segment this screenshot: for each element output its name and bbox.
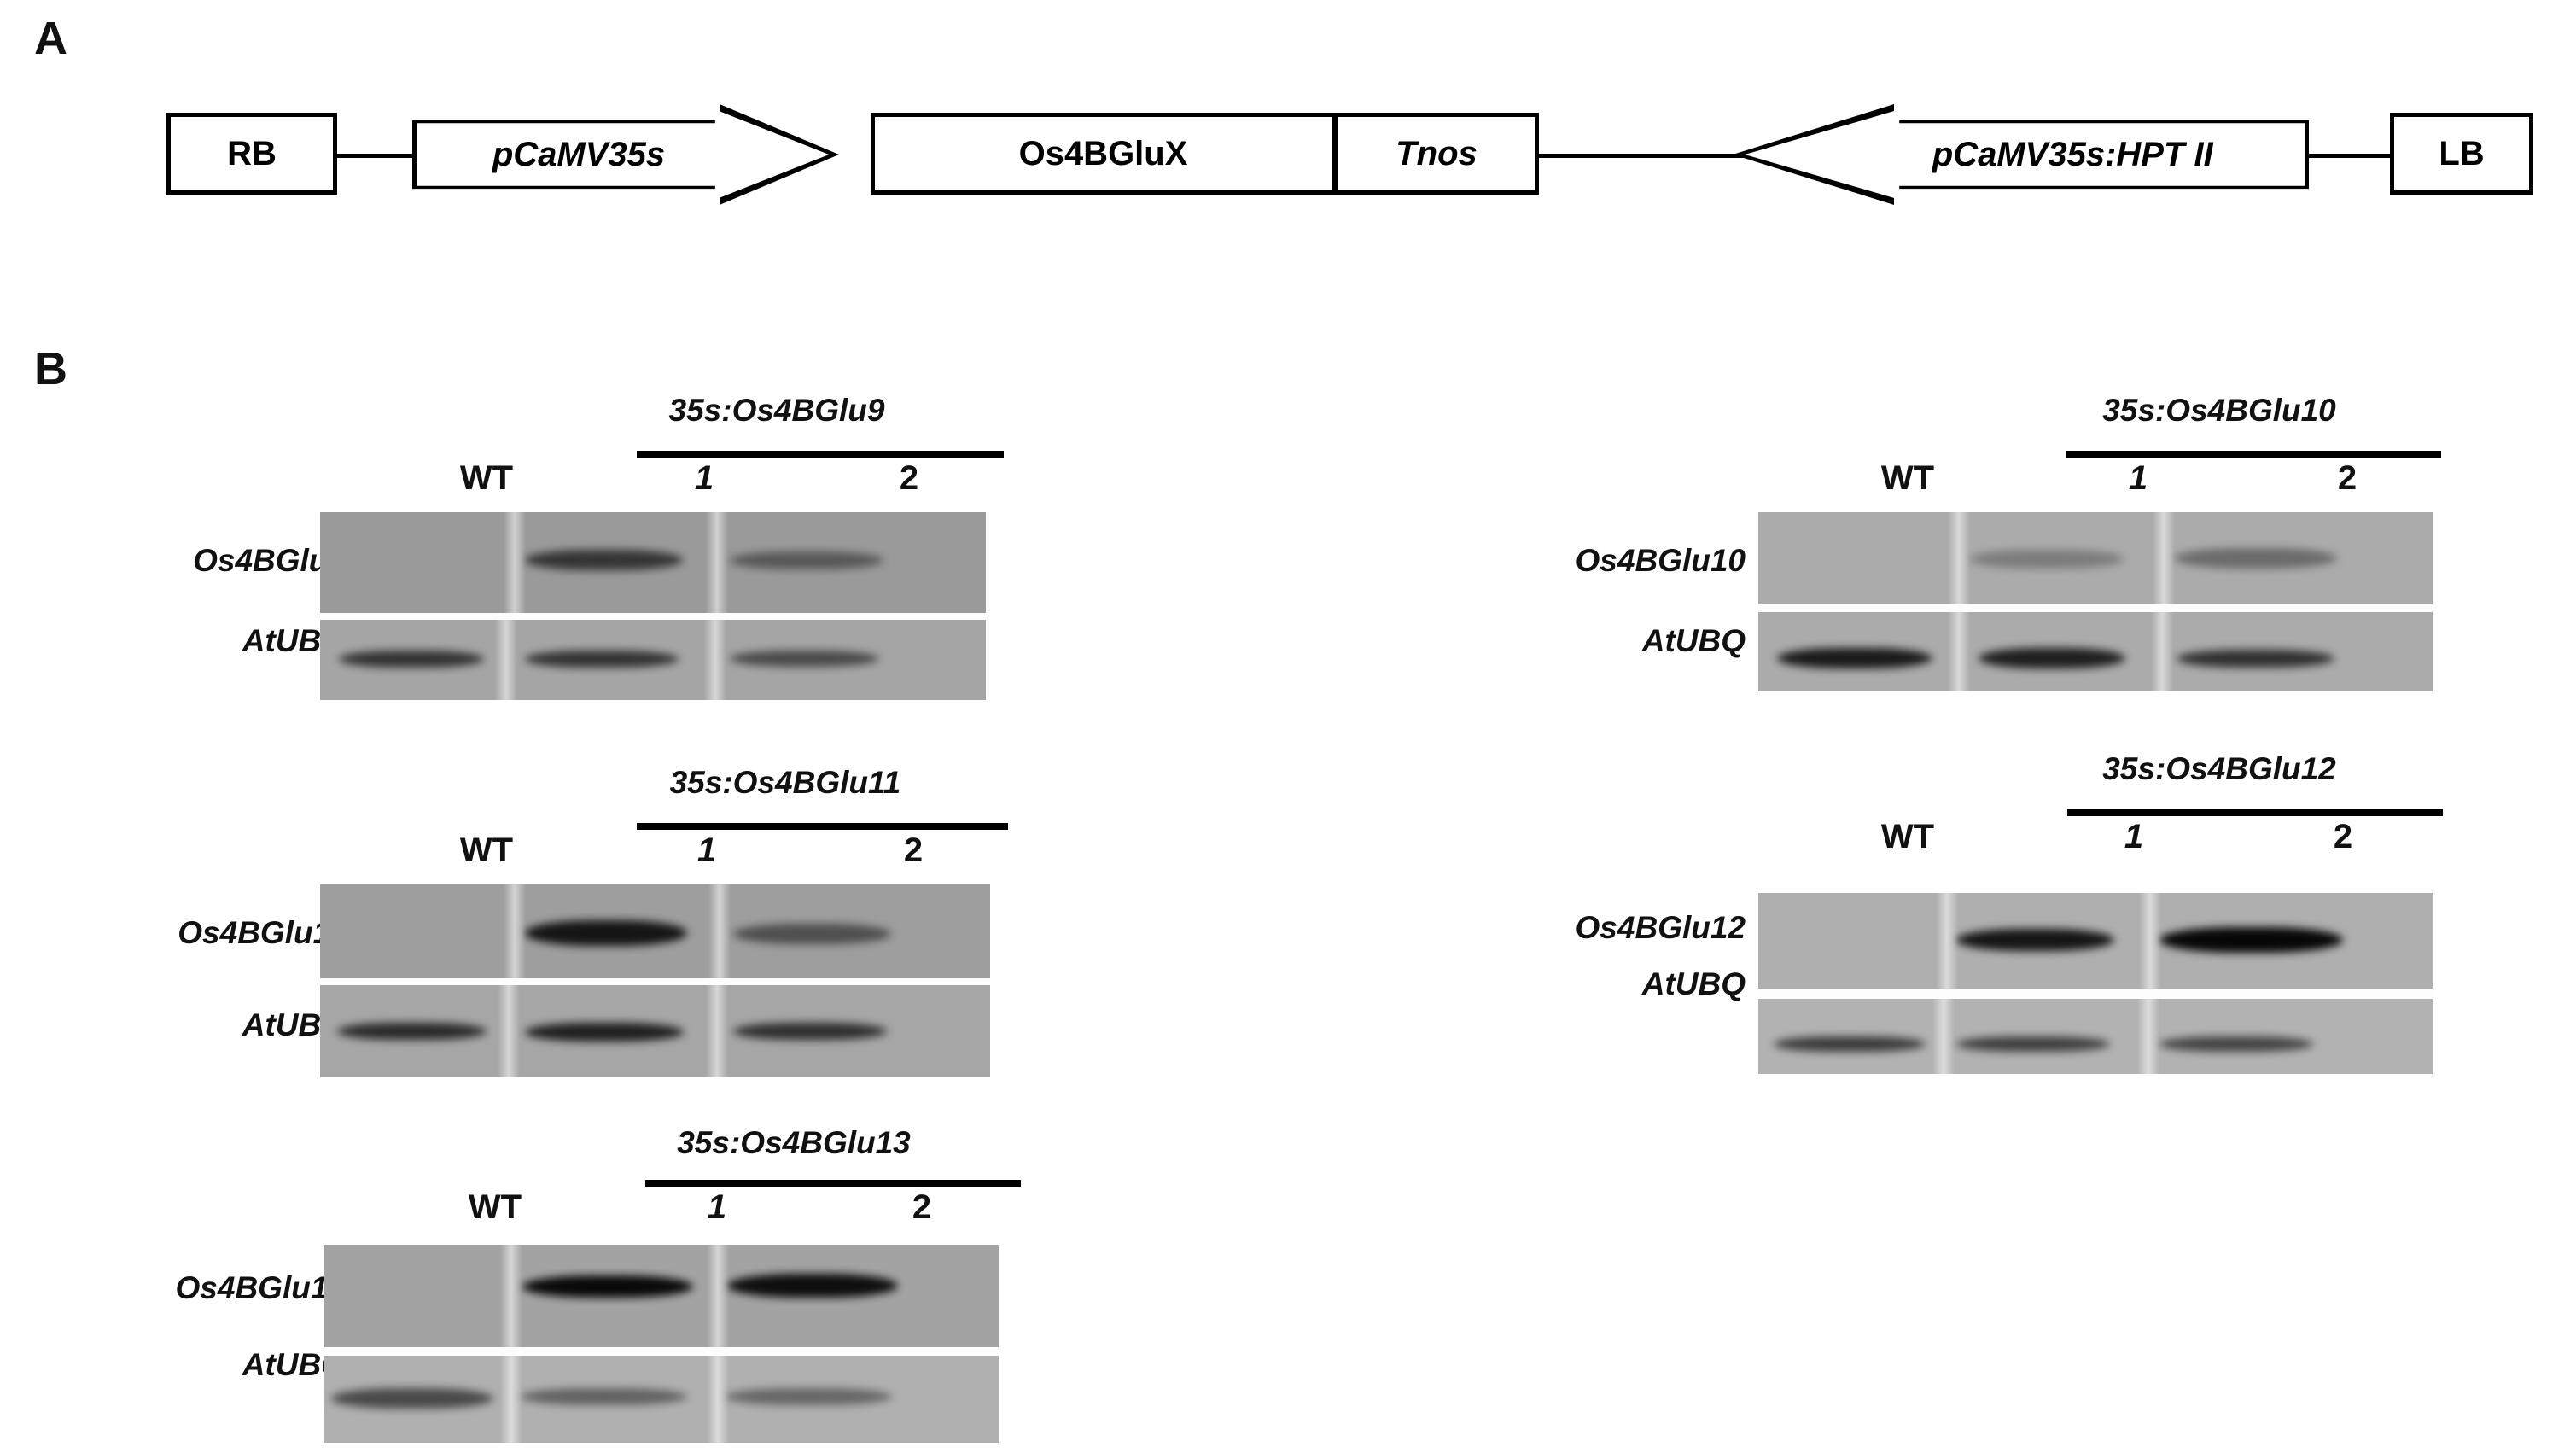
right-border-label: RB (227, 135, 277, 173)
transgenic-group-rule (645, 1180, 1021, 1187)
row-label-gene: Os4BGlu13 (81, 1270, 346, 1306)
lane-label-line2: 2 (888, 1188, 956, 1227)
blot-panel-os4bglu10: 35s:Os4BGlu10 WT 1 2 Os4BGlu10 AtUBQ (1647, 376, 2576, 717)
band-gene-lane1 (1956, 929, 2114, 951)
selection-label: pCaMV35s:HPT II (1733, 136, 2309, 174)
lane-label-wt: WT (1839, 459, 1976, 498)
left-border-box: LB (2390, 113, 2533, 195)
gene-box-os4bglux: Os4BGluX (871, 113, 1336, 195)
transgenic-group-rule (637, 823, 1008, 830)
gel-image (1758, 893, 2433, 1074)
blot-title: 35s:Os4BGlu9 (546, 393, 1007, 429)
lane-label-wt: WT (1839, 818, 1976, 856)
band-control-lane2 (726, 1388, 892, 1405)
lane-label-line2: 2 (2313, 459, 2381, 498)
gel-row-divider (320, 978, 990, 985)
band-gene-lane2 (2159, 927, 2343, 953)
row-label-gene: Os4BGlu10 (1438, 543, 1746, 579)
row-label-control: AtUBQ (81, 1007, 346, 1043)
band-gene-lane1 (522, 1275, 693, 1298)
blot-panel-os4bglu12: 35s:Os4BGlu12 WT 1 2 Os4BGlu12 AtUBQ (1647, 743, 2576, 1101)
lane-label-line1: 1 (670, 459, 738, 498)
blot-panel-os4bglu13: 35s:Os4BGlu13 WT 1 2 Os4BGlu13 AtUBQ (205, 1118, 1340, 1453)
gene-label: Os4BGluX (1019, 135, 1188, 173)
band-control-wt (337, 1023, 487, 1040)
connector-hpt-lb (2307, 154, 2392, 158)
right-border-box: RB (166, 113, 337, 195)
connector-rb-promoter (337, 154, 414, 158)
transgenic-group-rule (2066, 451, 2441, 458)
row-label-gene: Os4BGlu12 (1438, 910, 1746, 946)
band-control-wt (339, 651, 484, 668)
band-control-lane2 (733, 1023, 887, 1040)
lane-label-wt: WT (418, 459, 555, 498)
panel-a-letter: A (34, 15, 67, 61)
terminator-box-tnos: Tnos (1334, 113, 1539, 195)
gel-row-divider (1758, 604, 2433, 612)
gel-image (320, 512, 986, 700)
figure-root: A RB pCaMV35s Os4BGluX Tnos pCaMV35s:HPT (0, 0, 2576, 1453)
blot-panel-os4bglu11: 35s:Os4BGlu11 WT 1 2 Os4BGlu11 AtUBQ (205, 760, 1340, 1101)
band-control-lane1 (521, 1388, 687, 1405)
row-label-gene: Os4BGlu11 (81, 915, 346, 951)
promoter-arrow-pcamv35s: pCaMV35s (412, 104, 839, 205)
row-label-gene: Os4BGlu9 (90, 543, 346, 579)
panel-b-letter: B (34, 346, 67, 392)
terminator-label: Tnos (1396, 135, 1477, 173)
row-label-control: AtUBQ (81, 1347, 346, 1383)
gel-row-gene (324, 1245, 999, 1347)
blot-title: 35s:Os4BGlu11 (546, 765, 1024, 801)
gel-row-control (320, 985, 990, 1077)
band-gene-lane2 (733, 924, 891, 944)
blot-title: 35s:Os4BGlu13 (551, 1125, 1037, 1161)
band-control-lane2 (2159, 1036, 2313, 1052)
promoter-label: pCaMV35s (412, 136, 839, 174)
transgenic-group-rule (637, 451, 1004, 458)
band-gene-lane1 (525, 920, 687, 946)
gel-row-gene (320, 512, 986, 613)
blot-title: 35s:Os4BGlu12 (1972, 751, 2467, 787)
lane-label-line2: 2 (879, 832, 947, 870)
lane-label-line1: 1 (2100, 818, 2168, 856)
row-label-control: AtUBQ (1438, 966, 1746, 1002)
connector-tnos-hpt (1539, 154, 1748, 158)
band-control-wt (1777, 648, 1932, 668)
band-control-lane1 (1979, 648, 2125, 668)
lane-label-line1: 1 (2104, 459, 2172, 498)
lane-label-line1: 1 (673, 832, 741, 870)
gel-row-gene (1758, 893, 2433, 989)
band-control-wt (331, 1388, 493, 1409)
left-border-label: LB (2439, 135, 2484, 173)
band-gene-lane2 (2175, 548, 2337, 569)
gel-row-control (1758, 612, 2433, 691)
lane-label-wt: WT (427, 1188, 563, 1227)
row-label-control: AtUBQ (90, 623, 346, 659)
gel-row-control (324, 1356, 999, 1443)
row-label-control: AtUBQ (1438, 623, 1746, 659)
gel-row-control (1758, 999, 2433, 1074)
blot-panel-os4bglu9: 35s:Os4BGlu9 WT 1 2 Os4BGlu9 AtUBQ (205, 376, 1340, 717)
gel-image (1758, 512, 2433, 691)
band-gene-lane1 (1970, 550, 2124, 569)
gel-row-control (320, 620, 986, 700)
gel-row-gene (320, 884, 990, 978)
gel-row-gene (1758, 512, 2433, 604)
band-gene-lane1 (525, 550, 683, 570)
band-control-lane1 (525, 1023, 684, 1042)
gel-row-divider (324, 1347, 999, 1356)
band-control-wt (1774, 1036, 1926, 1052)
band-gene-lane2 (730, 551, 883, 569)
gel-row-divider (1758, 989, 2433, 999)
gel-image (324, 1245, 999, 1443)
gel-row-divider (320, 613, 986, 620)
lane-label-wt: WT (418, 832, 555, 870)
gel-image (320, 884, 990, 1077)
lane-label-line1: 1 (683, 1188, 751, 1227)
transgenic-group-rule (2067, 809, 2443, 816)
band-control-lane2 (730, 651, 879, 667)
band-gene-lane2 (727, 1274, 898, 1298)
lane-label-line2: 2 (2309, 818, 2377, 856)
band-control-lane2 (2177, 650, 2334, 668)
band-control-lane1 (1956, 1036, 2110, 1052)
blot-title: 35s:Os4BGlu10 (1963, 393, 2475, 429)
lane-label-line2: 2 (875, 459, 943, 498)
band-control-lane1 (525, 651, 679, 668)
selection-arrow-hpt2: pCaMV35s:HPT II (1733, 104, 2309, 205)
tdna-construct-diagram: RB pCaMV35s Os4BGluX Tnos pCaMV35s:HPT I… (0, 94, 2576, 213)
